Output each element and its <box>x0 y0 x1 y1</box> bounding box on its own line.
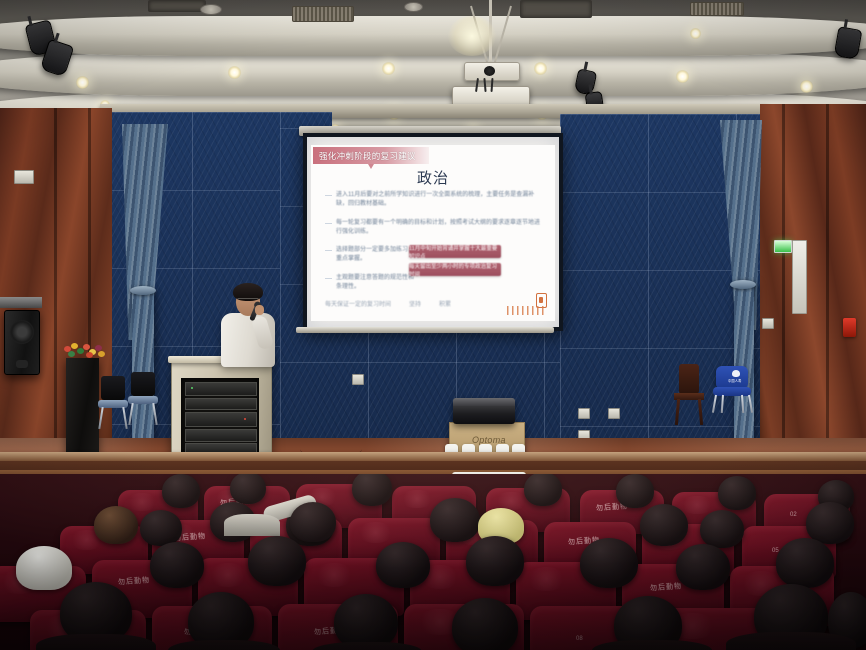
downlight <box>676 70 689 83</box>
projector-lens <box>484 66 495 76</box>
exit-sign-icon <box>774 240 792 253</box>
slide-title: 政治 <box>311 167 555 188</box>
ceiling-mounted-projector <box>444 0 536 112</box>
downlight <box>76 76 89 89</box>
rack-unit <box>185 429 257 442</box>
speaker-woofer-cone <box>10 320 34 344</box>
downlight <box>690 28 701 39</box>
chair-leg <box>698 399 703 425</box>
flower <box>98 351 105 357</box>
auditorium-photo: 强化冲刺阶段的复习建议 政治 — 进入11月后要对之前所学知识进行一次全面系统的… <box>0 0 866 650</box>
bullet-dash-icon: — <box>325 219 332 238</box>
ceiling-dome-fixture-2 <box>404 2 423 12</box>
student-presenter <box>219 283 277 365</box>
presenter-hand <box>255 305 264 315</box>
downlight <box>800 80 813 93</box>
chair-logo-text: 中国人寿 <box>728 378 742 383</box>
wood-seam <box>826 104 829 484</box>
downlight <box>382 62 395 75</box>
projector-lift-arm <box>494 6 512 64</box>
speaker-mount-plate <box>0 297 42 308</box>
flower <box>68 351 75 357</box>
flower <box>86 352 93 358</box>
bullet-text: 选择题部分一定要多加练习，重点掌握。 <box>336 246 414 265</box>
rack-led <box>244 418 246 420</box>
folding-chair-left-1 <box>96 376 130 428</box>
wood-seam <box>54 108 57 480</box>
wood-wall-right <box>760 104 866 484</box>
wall-socket <box>578 408 590 419</box>
chair-seat <box>713 387 751 396</box>
slide-footnote: 每天保证一定的复习时间 坚持 积累 <box>325 301 451 310</box>
chair-back <box>101 376 125 400</box>
slide-ribbon-text: 强化冲刺阶段的复习建议 <box>319 150 416 162</box>
chair-leg <box>675 399 680 425</box>
ceiling-beam-1 <box>0 16 866 56</box>
slide-cta-button-2: 每天留出至少两小时的专项政治复习时间 <box>409 263 501 276</box>
rack-cavity <box>181 378 259 456</box>
bullet-text: 主观题要注意答题的规范性和条理性。 <box>336 274 418 293</box>
wall-mounted-panel <box>792 240 807 314</box>
blue-chair: 中国人寿 <box>712 366 752 412</box>
stage-edge <box>0 452 866 461</box>
chair-leg <box>721 395 724 413</box>
bullet-dash-icon: — <box>325 246 332 265</box>
rack-unit <box>185 398 257 410</box>
chair-back: 中国人寿 <box>716 366 748 388</box>
stage-loudspeaker <box>4 310 40 375</box>
slide-bullet: — 进入11月后要对之前所学知识进行一次全面系统的梳理，主要任务是查漏补缺，回归… <box>325 191 543 210</box>
ceiling-vent-left <box>148 0 206 12</box>
chair-leg <box>128 403 133 425</box>
chair-back <box>679 364 699 394</box>
bullet-text: 进入11月后要对之前所学知识进行一次全面系统的梳理，主要任务是查漏补缺，回归教材… <box>336 191 543 210</box>
flower-arrangement <box>62 340 106 360</box>
rack-led <box>191 387 193 389</box>
projection-screen-bottom-bar <box>296 327 554 333</box>
chair-leg <box>98 407 103 429</box>
logo-wave-mark <box>507 306 547 315</box>
slide-bullet: — 每一轮复习都要有一个明确的目标和计划，按照考试大纲的要求逐章逐节地进行强化训… <box>325 219 543 238</box>
bullet-text: 每一轮复习都要有一个明确的目标和计划，按照考试大纲的要求逐章逐节地进行强化训练。 <box>336 219 543 238</box>
chair-leg <box>712 395 717 413</box>
audience-seating: 勿后勤物 勿后勤物 02 勿后勤物 勿后勤物 05 <box>0 474 866 650</box>
chair-leg <box>152 403 157 425</box>
folding-chair-left-2 <box>126 372 160 424</box>
wall-socket <box>608 408 620 419</box>
wall-socket <box>762 318 774 329</box>
curtain-tieback-right <box>730 280 756 289</box>
portable-projector <box>453 398 515 424</box>
bullet-dash-icon: — <box>325 191 332 210</box>
presentation-slide: 强化冲刺阶段的复习建议 政治 — 进入11月后要对之前所学知识进行一次全面系统的… <box>311 145 555 321</box>
rack-unit <box>185 412 257 427</box>
wood-seam <box>782 104 785 484</box>
speaker-tweeter <box>16 360 28 368</box>
chair-back <box>131 372 155 396</box>
projector-top <box>453 398 515 406</box>
audience-shading <box>0 474 866 650</box>
ceiling-air-grill-left <box>292 6 354 22</box>
ceiling-air-grill-right <box>690 2 744 16</box>
chair-logo: 中国人寿 <box>728 370 744 384</box>
ceiling-dome-fixture <box>200 4 222 15</box>
wall-socket <box>352 374 364 385</box>
fire-alarm-box <box>843 318 856 337</box>
spotlight-glow <box>448 16 496 56</box>
bullet-dash-icon: — <box>325 274 332 293</box>
slide-cta-button-1: 11月中旬开始背诵并掌握十大最重要知识点 <box>409 245 501 258</box>
downlight <box>228 66 241 79</box>
chair-logo-mark-icon <box>732 370 740 377</box>
ceiling-beam-2 <box>0 52 866 96</box>
wooden-chair <box>674 364 704 426</box>
slide-logo <box>507 295 549 317</box>
slide-ribbon-banner: 强化冲刺阶段的复习建议 <box>313 147 429 164</box>
chair-leg <box>741 395 744 413</box>
stage-spotlight <box>834 26 863 60</box>
curtain-tieback-left <box>130 286 156 295</box>
projected-image: 强化冲刺阶段的复习建议 政治 — 进入11月后要对之前所学知识进行一次全面系统的… <box>307 137 559 327</box>
rack-unit <box>185 382 257 396</box>
projection-screen: 强化冲刺阶段的复习建议 政治 — 进入11月后要对之前所学知识进行一次全面系统的… <box>303 133 563 331</box>
wall-speaker-bracket <box>14 170 34 184</box>
